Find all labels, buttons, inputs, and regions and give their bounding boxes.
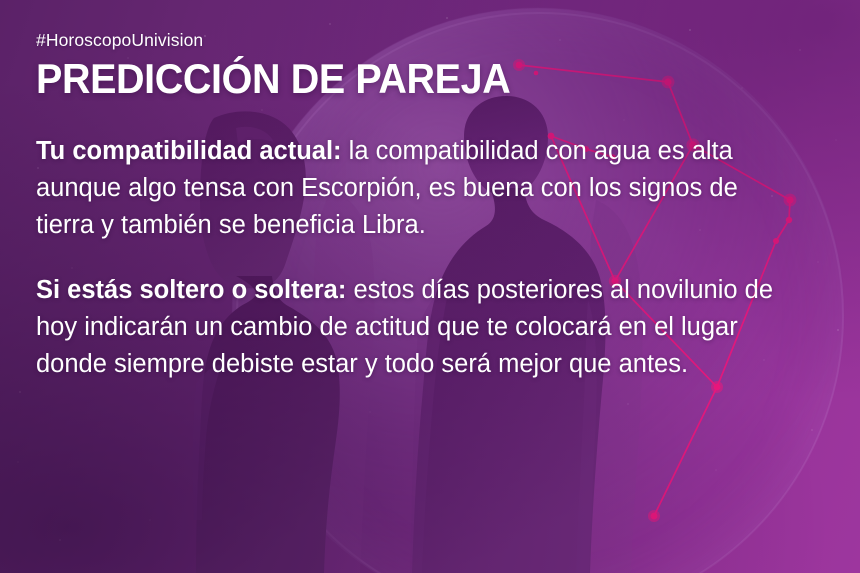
paragraph-lead-compatibility: Tu compatibilidad actual: <box>36 137 342 165</box>
hashtag-label: #HoroscopoUnivision <box>36 30 824 51</box>
horoscope-card: #HoroscopoUnivision PREDICCIÓN DE PAREJA… <box>0 0 860 573</box>
paragraph-lead-single: Si estás soltero o soltera: <box>36 276 346 304</box>
page-title: PREDICCIÓN DE PAREJA <box>36 55 777 103</box>
paragraph-single: Si estás soltero o soltera: estos días p… <box>36 272 798 383</box>
paragraph-compatibility: Tu compatibilidad actual: la compatibili… <box>36 133 798 244</box>
content-area: #HoroscopoUnivision PREDICCIÓN DE PAREJA… <box>0 0 860 573</box>
